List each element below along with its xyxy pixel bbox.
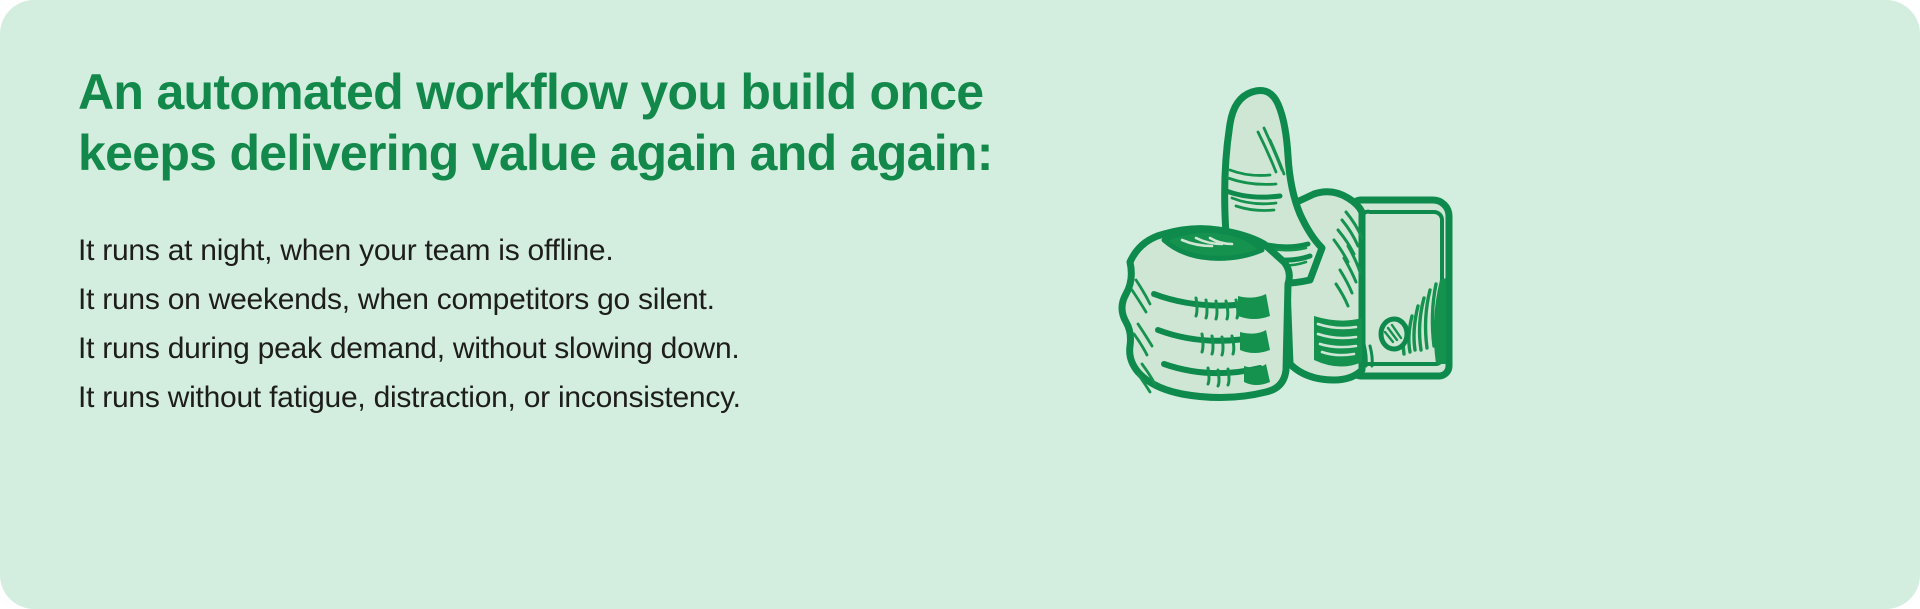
list-item: It runs on weekends, when competitors go… (78, 275, 1118, 324)
thumbs-up-icon (1118, 48, 1478, 408)
list-item: It runs at night, when your team is offl… (78, 226, 1118, 275)
thumbs-up-artwork (1122, 91, 1449, 398)
page-title: An automated workflow you build once kee… (78, 62, 1118, 184)
promo-card: An automated workflow you build once kee… (0, 0, 1920, 609)
headline-line-2: keeps delivering value again and again: (78, 123, 1118, 184)
copy-block: An automated workflow you build once kee… (78, 62, 1118, 422)
list-item: It runs during peak demand, without slow… (78, 324, 1118, 373)
list-item: It runs without fatigue, distraction, or… (78, 373, 1118, 422)
headline-line-1: An automated workflow you build once (78, 62, 1118, 123)
benefit-list: It runs at night, when your team is offl… (78, 226, 1118, 422)
